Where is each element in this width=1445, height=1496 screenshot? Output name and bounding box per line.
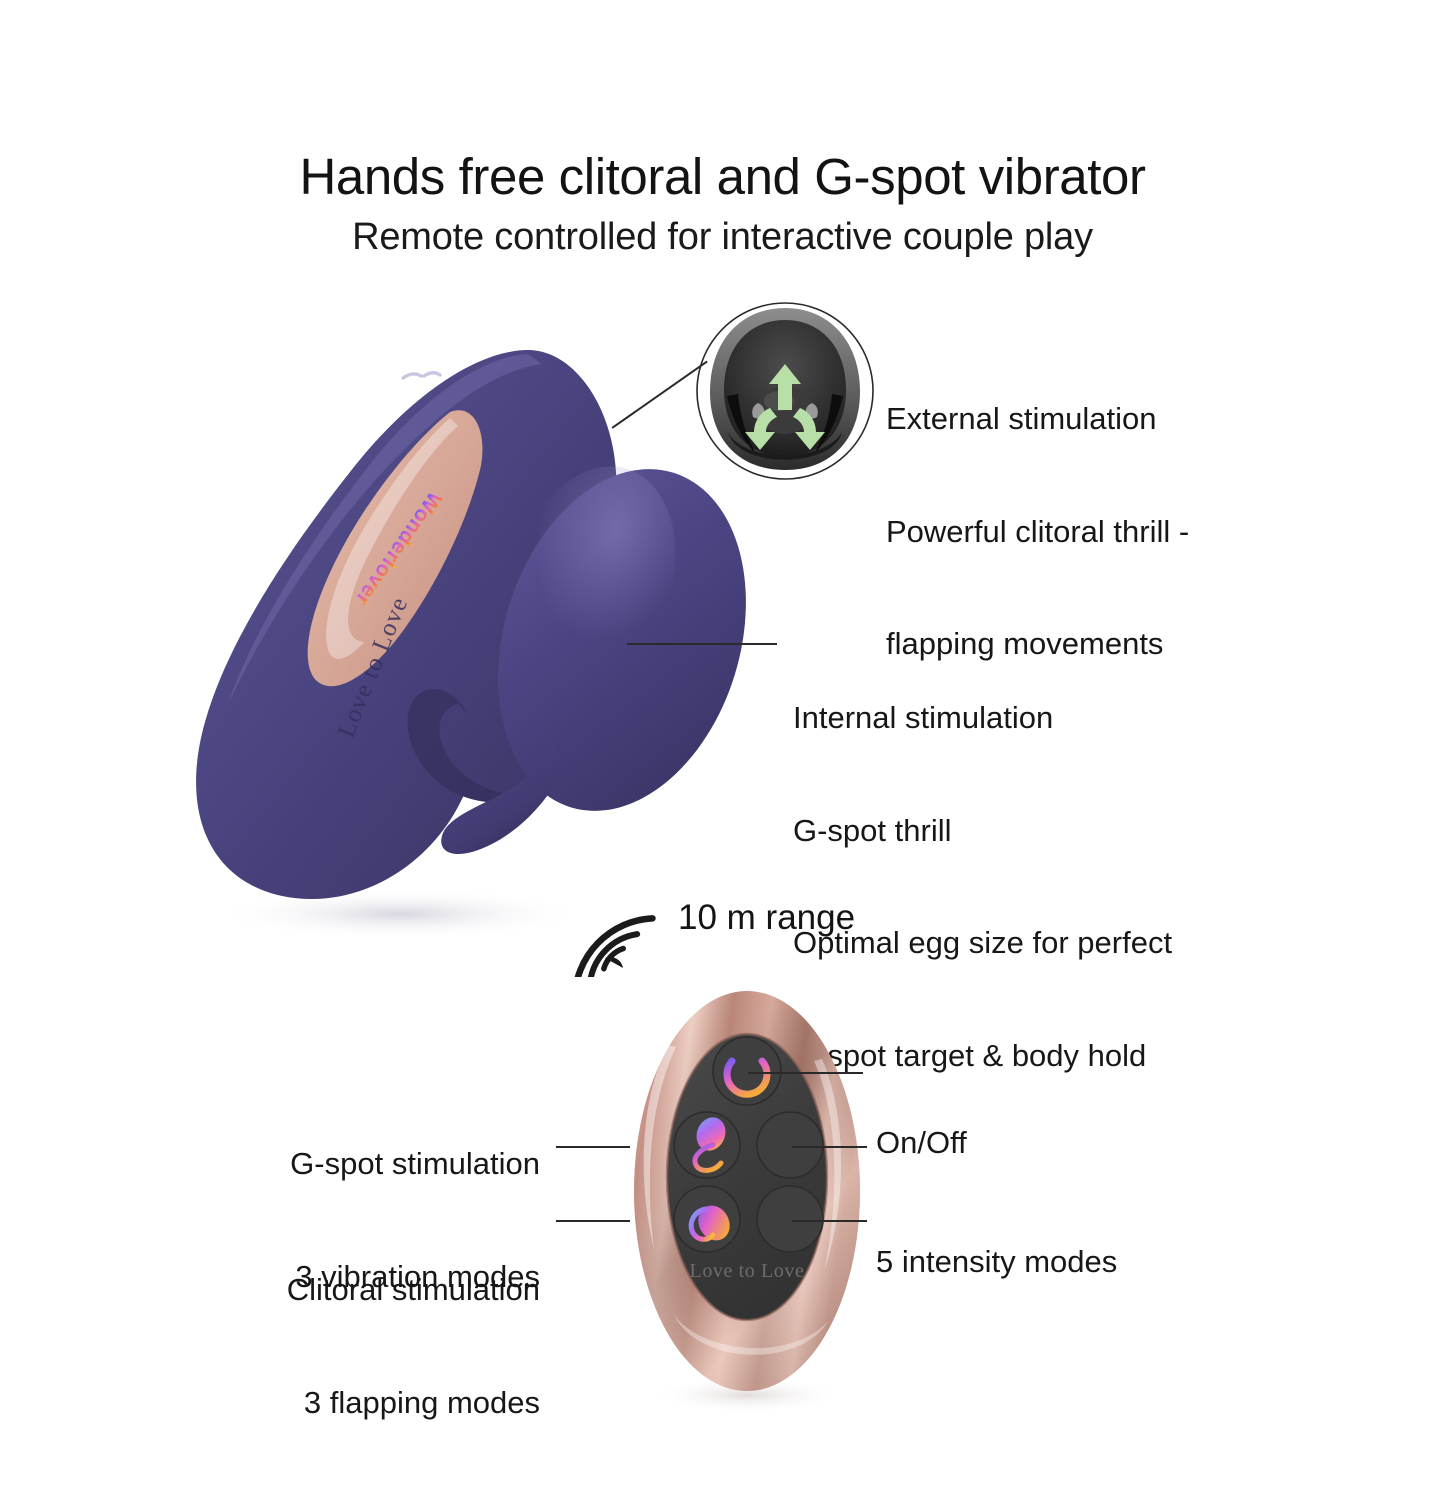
leader-internal-to-egg xyxy=(627,643,777,645)
device-shadow xyxy=(215,888,585,940)
external-detail-inset xyxy=(694,300,876,482)
charging-contacts xyxy=(403,373,440,378)
remote-control: Love to Love xyxy=(614,985,880,1415)
gspot-button[interactable] xyxy=(674,1112,740,1178)
leader-plus-to-label xyxy=(792,1146,867,1148)
label-clitoral-line-1: Clitoral stimulation xyxy=(130,1271,540,1309)
label-intensity-text: 5 intensity modes xyxy=(876,1243,1117,1281)
label-on-off-text: On/Off xyxy=(876,1124,967,1162)
infographic-canvas: Hands free clitoral and G-spot vibrator … xyxy=(0,0,1445,1445)
leader-clitoral-to-label xyxy=(556,1220,630,1222)
callout-internal-line-1: Internal stimulation xyxy=(793,699,1172,737)
leader-power-to-label xyxy=(748,1072,863,1074)
label-intensity-modes: 5 intensity modes xyxy=(876,1168,1117,1356)
page-subtitle: Remote controlled for interactive couple… xyxy=(0,218,1445,258)
leader-minus-to-label xyxy=(792,1220,867,1222)
callout-external-line-1: External stimulation xyxy=(886,400,1189,438)
wifi-signal-icon xyxy=(553,872,673,977)
minus-button[interactable] xyxy=(757,1186,823,1252)
clitoral-button[interactable] xyxy=(674,1186,740,1252)
leader-gspot-to-label xyxy=(556,1146,630,1148)
range-label: 10 m range xyxy=(678,898,855,938)
power-button[interactable] xyxy=(713,1037,781,1105)
plus-button[interactable] xyxy=(757,1112,823,1178)
label-clitoral-line-2: 3 flapping modes xyxy=(130,1384,540,1422)
remote-brand-label: Love to Love xyxy=(690,1260,805,1282)
label-gspot-line-1: G-spot stimulation xyxy=(130,1145,540,1183)
inset-contents xyxy=(694,300,876,482)
callout-external-line-2: Powerful clitoral thrill - xyxy=(886,513,1189,551)
callout-internal-line-2: G-spot thrill xyxy=(793,812,1172,850)
label-clitoral-stimulation: Clitoral stimulation 3 flapping modes xyxy=(130,1196,540,1496)
page-title: Hands free clitoral and G-spot vibrator xyxy=(0,150,1445,204)
